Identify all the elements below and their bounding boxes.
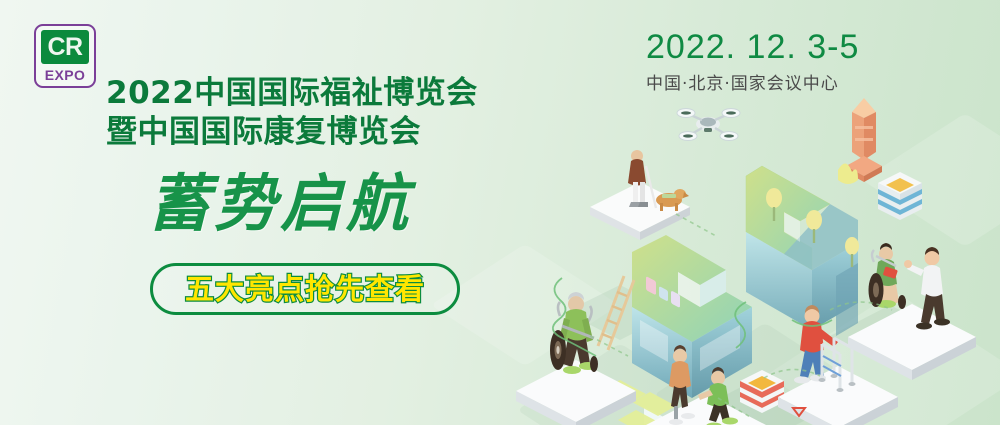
highlights-cta-label: 五大亮点抢先查看 <box>185 272 425 306</box>
drone-icon <box>677 109 740 141</box>
event-title: 2022中国国际福祉博览会 暨中国国际康复博览会 <box>106 74 478 152</box>
event-date: 2022. 12. 3-5 <box>646 26 859 68</box>
stacked-boxes-icon <box>878 172 922 220</box>
expo-promo-banner: CR EXPO 2022中国国际福祉博览会 暨中国国际康复博览会 蓄势启航 五大… <box>0 0 1000 425</box>
logo-mark-text: CR <box>41 30 89 64</box>
guide-dog-walker-icon <box>590 150 690 240</box>
event-title-line-2: 暨中国国际康复博览会 <box>106 113 478 152</box>
event-title-line-1: 2022中国国际福祉博览会 <box>106 74 478 113</box>
monument-tower-icon <box>846 98 882 182</box>
highlights-cta-button[interactable]: 五大亮点抢先查看 <box>150 263 460 315</box>
wheelchair-assist-pair-icon <box>848 243 976 380</box>
cr-expo-logo[interactable]: CR EXPO <box>34 24 96 88</box>
slogan-text: 蓄势启航 <box>148 168 412 240</box>
isometric-illustration <box>500 80 1000 425</box>
logo-sub-text: EXPO <box>45 66 86 84</box>
letter-r-building <box>746 166 858 336</box>
